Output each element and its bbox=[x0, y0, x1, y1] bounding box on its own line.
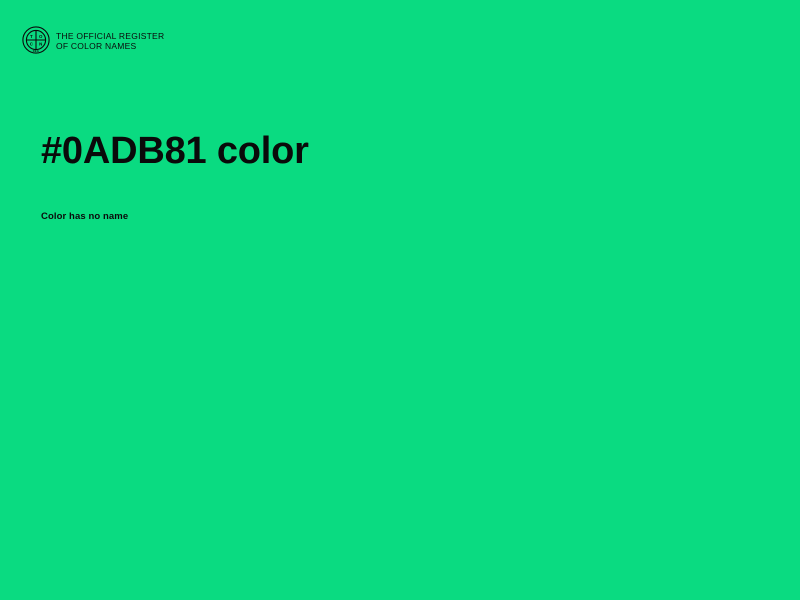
svg-text:C: C bbox=[30, 42, 34, 47]
color-name-status: Color has no name bbox=[41, 210, 741, 223]
brand-wordmark: THE OFFICIAL REGISTER OF COLOR NAMES bbox=[56, 31, 164, 51]
page-title: #0ADB81 color bbox=[41, 128, 741, 174]
svg-text:REG: REG bbox=[33, 49, 40, 53]
brand-wordmark-line-2: OF COLOR NAMES bbox=[56, 41, 164, 51]
brand-lockup[interactable]: T O C N REG THE OFFICIAL REGISTER OF COL… bbox=[22, 26, 164, 54]
brand-wordmark-line-1: THE OFFICIAL REGISTER bbox=[56, 31, 164, 41]
svg-text:O: O bbox=[39, 34, 43, 39]
svg-text:N: N bbox=[39, 42, 42, 47]
official-register-seal-icon: T O C N REG bbox=[22, 26, 50, 54]
svg-text:T: T bbox=[30, 34, 33, 39]
color-info: #0ADB81 color Color has no name bbox=[41, 128, 741, 223]
color-page: T O C N REG THE OFFICIAL REGISTER OF COL… bbox=[0, 0, 800, 600]
